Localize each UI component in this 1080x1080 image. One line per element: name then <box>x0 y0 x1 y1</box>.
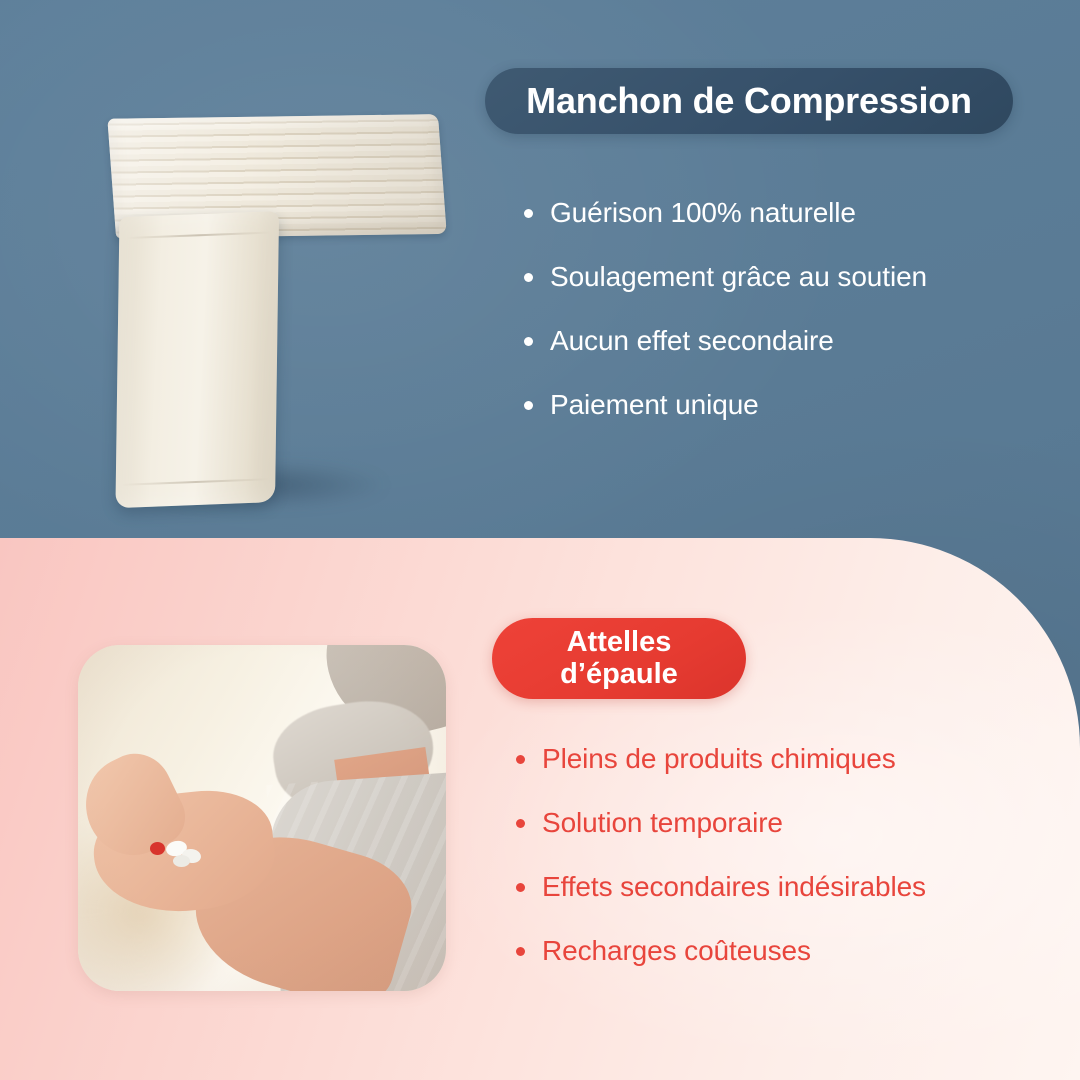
drawback-text: Solution temporaire <box>542 806 783 839</box>
drawback-text: Pleins de produits chimiques <box>542 742 896 775</box>
bullet-dot-icon <box>516 947 525 956</box>
bullet-dot-icon <box>524 337 533 346</box>
benefit-text: Soulagement grâce au soutien <box>550 260 927 293</box>
alternative-title-line1: Attelles <box>567 627 672 658</box>
sleeve-shape <box>82 99 490 526</box>
alternative-title-badge: Attelles d’épaule <box>492 618 746 699</box>
alternative-drawbacks-list: Pleins de produits chimiques Solution te… <box>516 742 986 998</box>
product-title-label: Manchon de Compression <box>526 80 972 122</box>
list-item: Guérison 100% naturelle <box>524 196 954 229</box>
infographic-canvas: Manchon de Compression Guérison 100% nat… <box>0 0 1080 1080</box>
list-item: Pleins de produits chimiques <box>516 742 986 775</box>
alternative-title-line2: d’épaule <box>560 659 678 690</box>
bullet-dot-icon <box>516 755 525 764</box>
bullet-dot-icon <box>516 883 525 892</box>
product-benefits-list: Guérison 100% naturelle Soulagement grâc… <box>524 196 954 452</box>
list-item: Recharges coûteuses <box>516 934 986 967</box>
bullet-dot-icon <box>516 819 525 828</box>
compression-sleeve-image <box>96 112 476 512</box>
sleeve-tube <box>115 211 279 508</box>
benefit-text: Paiement unique <box>550 388 759 421</box>
drawback-text: Recharges coûteuses <box>542 934 811 967</box>
bullet-dot-icon <box>524 209 533 218</box>
pills-photo <box>78 645 446 991</box>
drawback-text: Effets secondaires indésirables <box>542 870 926 903</box>
product-title-badge: Manchon de Compression <box>485 68 1013 134</box>
bullet-dot-icon <box>524 401 533 410</box>
benefit-text: Aucun effet secondaire <box>550 324 834 357</box>
sleeve-seam-top <box>127 231 271 239</box>
benefit-text: Guérison 100% naturelle <box>550 196 856 229</box>
list-item: Solution temporaire <box>516 806 986 839</box>
sleeve-seam-bottom <box>122 478 270 486</box>
list-item: Aucun effet secondaire <box>524 324 954 357</box>
photo-vignette <box>78 645 446 991</box>
list-item: Soulagement grâce au soutien <box>524 260 954 293</box>
list-item: Paiement unique <box>524 388 954 421</box>
list-item: Effets secondaires indésirables <box>516 870 986 903</box>
bullet-dot-icon <box>524 273 533 282</box>
